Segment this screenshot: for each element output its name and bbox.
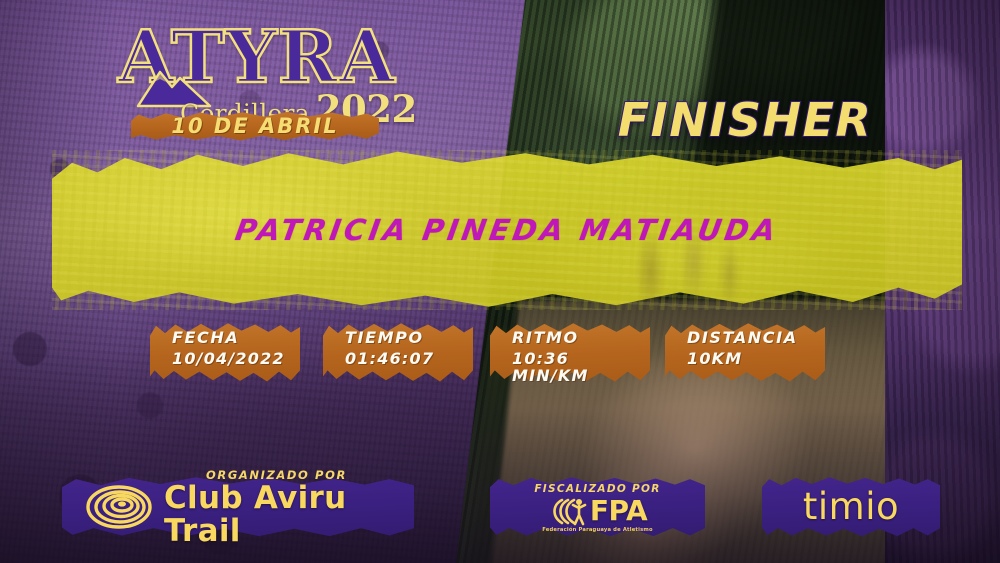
stats-row: FECHA 10/04/2022 TIEMPO 01:46:07 RITMO 1…	[150, 322, 850, 384]
stat-fecha: FECHA 10/04/2022	[150, 322, 300, 384]
sponsor-organizer: ORGANIZADO POR Club Aviru Trail	[62, 476, 414, 538]
sponsor-sanctioner-subtitle: Federación Paraguaya de Atletismo	[542, 527, 652, 533]
athlete-name: PATRICIA PINEDA MATIAUDA	[39, 150, 974, 310]
stat-label: FECHA	[172, 329, 300, 347]
sponsor-sanctioner-name: FPA	[590, 497, 647, 525]
sponsor-sanctioner: FISCALIZADO POR FPA Federación Paraguaya…	[490, 476, 705, 538]
stat-label: RITMO	[512, 329, 650, 347]
stat-label: TIEMPO	[345, 329, 473, 347]
stat-value: 10:36 MIN/KM	[512, 350, 650, 385]
stat-ritmo: RITMO 10:36 MIN/KM	[490, 322, 650, 384]
sponsor-organizer-name: Club Aviru Trail	[164, 482, 414, 547]
stat-distancia: DISTANCIA 10KM	[665, 322, 825, 384]
stat-tiempo: TIEMPO 01:46:07	[323, 322, 473, 384]
date-banner-label: 10 DE ABRIL	[131, 110, 379, 142]
sponsor-timing-name: timio	[762, 476, 940, 538]
stat-value: 10KM	[687, 350, 825, 368]
fpa-runner-icon	[548, 496, 588, 526]
finisher-certificate: ATYRA Cordillera 2022 10 DE ABRIL FINISH…	[0, 0, 1000, 563]
spiral-nest-icon	[84, 484, 154, 530]
finisher-label: FINISHER	[600, 92, 890, 148]
stat-label: DISTANCIA	[687, 329, 825, 347]
sponsor-timing: timio	[762, 476, 940, 538]
stat-value: 01:46:07	[345, 350, 473, 368]
stat-value: 10/04/2022	[172, 350, 300, 368]
